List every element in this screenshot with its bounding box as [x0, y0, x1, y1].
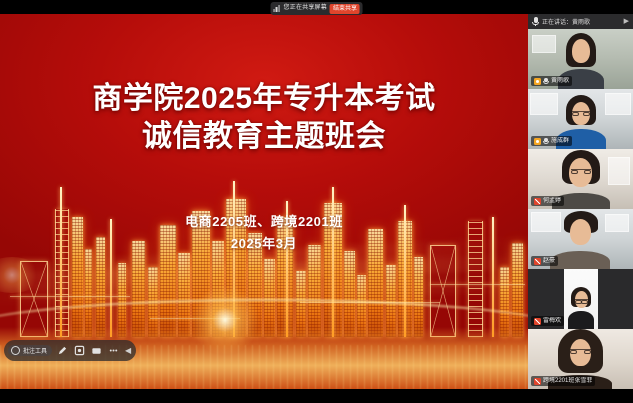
participant-name: 施成群 [551, 137, 569, 145]
participant-tiles: 黄雨歌 施成群 [528, 29, 633, 389]
participant-tile[interactable]: 黄雨歌 [528, 29, 633, 89]
participant-name: 黄雨歌 [551, 77, 569, 85]
screen-share-banner: 您正在共享屏幕 结束共享 [270, 2, 363, 15]
participant-name-tag: 施成群 [531, 136, 572, 146]
presentation-slide: 商学院2025年专升本考试 诚信教育主题班会 电商2205班、跨境2201班 2… [0, 14, 528, 389]
participant-name-tag: 何孟婷 [531, 196, 564, 206]
portrait-frame [564, 269, 598, 329]
end-share-button[interactable]: 结束共享 [330, 4, 360, 14]
meeting-screen-share-window: 您正在共享屏幕 结束共享 [0, 0, 633, 403]
mic-muted-badge-icon [534, 258, 541, 265]
participant-tile[interactable]: 施成群 [528, 89, 633, 149]
microphone-icon [532, 17, 539, 26]
signal-bars-icon [273, 5, 280, 12]
active-speaker-bar: 正在讲话：黄雨歌 ▶ [528, 14, 633, 29]
mic-muted-badge-icon [534, 318, 541, 325]
active-speaker-label: 正在讲话：黄雨歌 [542, 17, 590, 26]
participant-tile[interactable]: 雷梅欢 [528, 269, 633, 329]
more-dots-icon[interactable] [107, 344, 120, 357]
mic-on-icon [543, 78, 549, 85]
host-badge-icon [534, 78, 541, 85]
participant-name: 何孟婷 [543, 197, 561, 205]
participant-tile[interactable]: 何孟婷 [528, 149, 633, 209]
slide-title-line-2: 诚信教育主题班会 [0, 118, 528, 156]
participant-name: 跨境2201班张雪菲 [543, 377, 592, 385]
select-frame-icon[interactable] [73, 344, 86, 357]
participant-name-tag: 赵豪 [531, 256, 558, 266]
participant-name: 赵豪 [543, 257, 555, 265]
annotation-tool-label: 批注工具 [23, 346, 47, 355]
participant-name: 雷梅欢 [543, 317, 561, 325]
slide-title: 商学院2025年专升本考试 诚信教育主题班会 [0, 80, 528, 156]
mic-muted-badge-icon [534, 198, 541, 205]
mic-muted-badge-icon [534, 378, 541, 385]
participant-name-tag: 黄雨歌 [531, 76, 572, 86]
share-status-text: 您正在共享屏幕 [284, 2, 327, 15]
chevron-right-icon[interactable]: ▶ [624, 18, 629, 25]
annotation-tool-pill[interactable]: 批注工具 [8, 345, 52, 356]
slide-subtitle-line-1: 电商2205班、跨境2201班 [0, 211, 528, 233]
shared-content-stage: 商学院2025年专升本考试 诚信教育主题班会 电商2205班、跨境2201班 2… [0, 14, 528, 389]
participant-sidebar: 正在讲话：黄雨歌 ▶ 黄雨歌 [528, 14, 633, 389]
slide-subtitle-line-2: 2025年3月 [0, 233, 528, 255]
pen-icon[interactable] [56, 344, 69, 357]
slide-subtitle: 电商2205班、跨境2201班 2025年3月 [0, 211, 528, 255]
participant-name-tag: 跨境2201班张雪菲 [531, 376, 595, 386]
chevron-left-icon[interactable]: ◀ [124, 346, 132, 355]
slide-title-line-1: 商学院2025年专升本考试 [0, 80, 528, 118]
host-badge-icon [534, 138, 541, 145]
mic-on-icon [543, 138, 549, 145]
participant-name-tag: 雷梅欢 [531, 316, 564, 326]
record-dot-icon [11, 346, 20, 355]
participant-tile[interactable]: 赵豪 [528, 209, 633, 269]
eraser-icon[interactable] [90, 344, 103, 357]
participant-tile[interactable]: 跨境2201班张雪菲 [528, 329, 633, 389]
annotation-toolbar[interactable]: 批注工具 ◀ [4, 340, 136, 361]
